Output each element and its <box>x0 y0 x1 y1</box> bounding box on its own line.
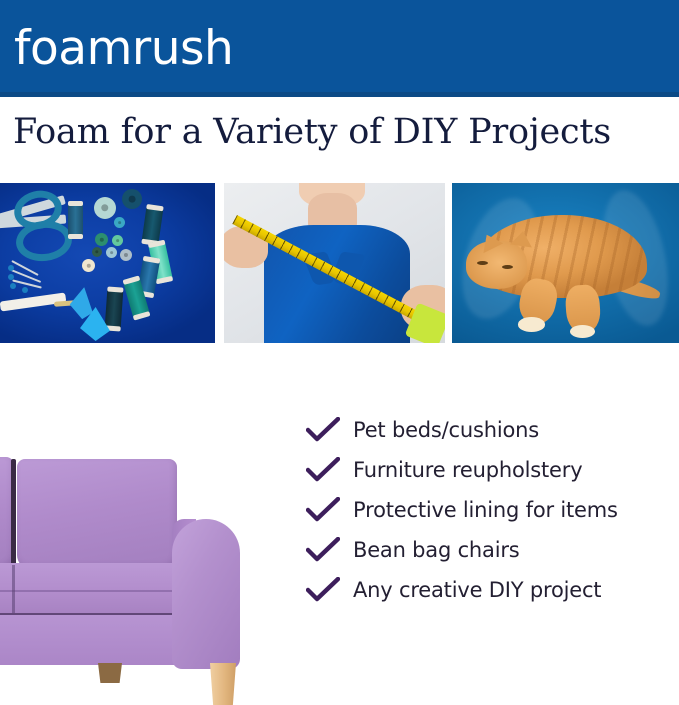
list-item: Protective lining for items <box>306 490 674 530</box>
benefit-label: Protective lining for items <box>340 497 618 523</box>
thread-spool-black <box>104 286 123 331</box>
button-small-cream <box>82 259 95 272</box>
list-item: Any creative DIY project <box>306 570 674 610</box>
button-small-green <box>95 233 108 246</box>
benefit-label: Any creative DIY project <box>340 577 601 603</box>
cat-on-cushion-photo <box>452 183 679 343</box>
cat-ear-right <box>510 230 534 248</box>
sofa-rolled-arm <box>172 519 240 669</box>
button-small-grey <box>120 249 132 261</box>
benefit-label: Pet beds/cushions <box>340 417 539 443</box>
pin-head-4 <box>22 287 28 293</box>
brand-logo: foamrush <box>14 22 233 76</box>
sofa-seat-seam <box>0 590 192 592</box>
button-large-navy <box>122 189 142 209</box>
check-icon <box>306 577 340 603</box>
brand-banner: foamrush <box>0 0 679 97</box>
button-small-forest <box>92 247 102 257</box>
pin-head-2 <box>8 274 14 280</box>
check-icon <box>306 457 340 483</box>
photo-strip <box>0 183 679 343</box>
sofa-cushion-gap <box>11 459 16 571</box>
sofa-leg-front-wood <box>210 663 236 705</box>
page-title: Foam for a Variety of DIY Projects <box>13 108 673 156</box>
banner-underline <box>0 92 679 97</box>
sofa-leg-rear <box>98 663 122 683</box>
cat-front-paw <box>518 317 545 331</box>
pin-head-3 <box>10 283 16 289</box>
benefit-label: Bean bag chairs <box>340 537 520 563</box>
check-icon <box>306 537 340 563</box>
pin-head-1 <box>8 265 14 271</box>
sofa-back-cushion-right <box>17 459 177 569</box>
benefit-label: Furniture reupholstery <box>340 457 582 483</box>
sewing-supplies-photo <box>0 183 215 343</box>
product-infographic: foamrush Foam for a Variety of DIY Proje… <box>0 0 679 679</box>
list-item: Furniture reupholstery <box>306 450 674 490</box>
check-icon <box>306 497 340 523</box>
button-large-pale <box>94 197 116 219</box>
benefits-list: Pet beds/cushions Furniture reupholstery… <box>306 410 674 610</box>
cat-head <box>466 241 527 289</box>
cat-eye-right <box>502 265 513 269</box>
list-item: Bean bag chairs <box>306 530 674 570</box>
check-icon <box>306 417 340 443</box>
thread-spool-navy <box>68 201 83 239</box>
sofa-base-skirt <box>0 615 198 665</box>
button-small-mint <box>112 235 123 246</box>
sofa-seat-cushions <box>0 563 198 615</box>
purple-sofa-illustration <box>0 445 268 679</box>
button-small-sky <box>106 247 117 258</box>
button-small-cyan <box>114 217 125 228</box>
sofa-seat-divider <box>12 565 15 613</box>
list-item: Pet beds/cushions <box>306 410 674 450</box>
tape-measure-photo <box>224 183 445 343</box>
